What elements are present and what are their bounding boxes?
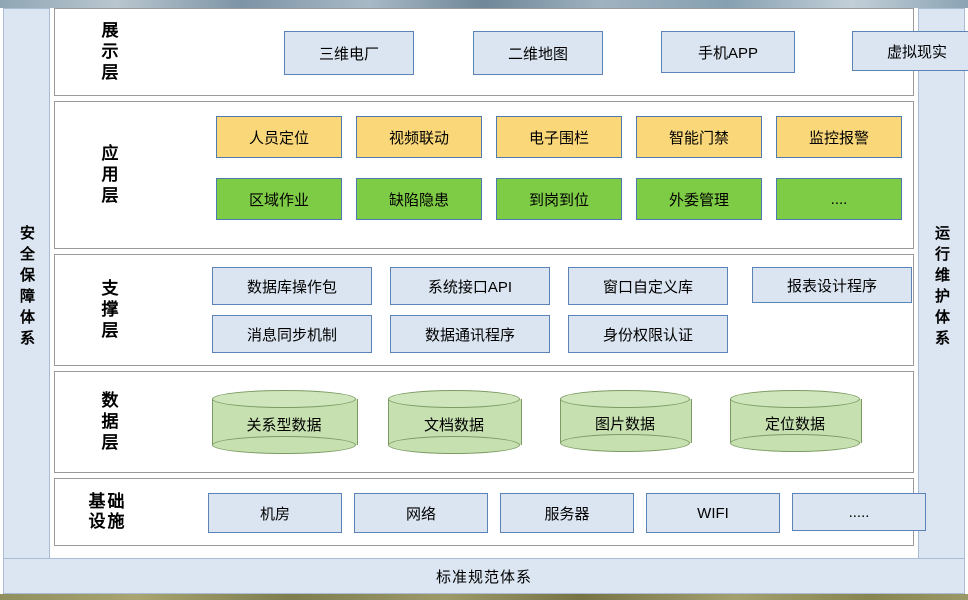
node-support[interactable]: 数据库操作包 (212, 267, 372, 305)
layer-label-text: 基础设施 (89, 492, 127, 531)
node-application[interactable]: 监控报警 (776, 116, 902, 158)
node-presentation[interactable]: 手机APP (661, 31, 795, 73)
sidebar-right-label: 运行维护体系 (934, 225, 949, 351)
cylinder-top (388, 390, 520, 408)
architecture-diagram: 智能 安全 维护 安全保障体系 运行维护体系 展示层三维电厂二维地图手机APP虚… (0, 0, 968, 600)
node-label: 到岗到位 (529, 189, 589, 210)
node-label: .... (831, 191, 848, 208)
node-label: 外委管理 (669, 189, 729, 210)
node-application[interactable]: 到岗到位 (496, 178, 622, 220)
layer-body-infrastructure: 机房网络服务器WIFI..... (160, 479, 913, 545)
layer-stack: 展示层三维电厂二维地图手机APP虚拟现实应用层人员定位视频联动电子围栏智能门禁监… (54, 8, 914, 568)
node-presentation[interactable]: 二维地图 (473, 31, 603, 75)
node-label: 区域作业 (249, 189, 309, 210)
layer-data: 数据层关系型数据文档数据图片数据定位数据 (54, 371, 914, 473)
node-label: 手机APP (698, 42, 758, 63)
node-label: 服务器 (544, 503, 589, 524)
node-label: 智能门禁 (669, 127, 729, 148)
node-label: 视频联动 (389, 127, 449, 148)
layer-label-presentation: 展示层 (55, 21, 160, 84)
node-support[interactable]: 身份权限认证 (568, 315, 728, 353)
node-support[interactable]: 数据通讯程序 (390, 315, 550, 353)
node-infrastructure[interactable]: 网络 (354, 493, 488, 533)
node-label: 窗口自定义库 (603, 276, 693, 297)
node-label: 消息同步机制 (247, 324, 337, 345)
node-label: 身份权限认证 (603, 324, 693, 345)
node-application[interactable]: 缺陷隐患 (356, 178, 482, 220)
node-label: 二维地图 (508, 43, 568, 64)
cylinder-bottom (388, 436, 520, 454)
layer-label-support: 支撑层 (55, 279, 160, 342)
node-application[interactable]: 人员定位 (216, 116, 342, 158)
node-label: 系统接口API (428, 276, 512, 297)
node-support[interactable]: 窗口自定义库 (568, 267, 728, 305)
node-label: 监控报警 (809, 127, 869, 148)
footer-label: 标准规范体系 (436, 566, 532, 587)
cylinder-label: 图片数据 (595, 413, 655, 434)
node-support[interactable]: 系统接口API (390, 267, 550, 305)
node-label: 三维电厂 (319, 43, 379, 64)
cylinder-label: 文档数据 (424, 414, 484, 435)
node-label: ..... (849, 504, 870, 521)
node-label: 人员定位 (249, 127, 309, 148)
layer-support: 支撑层数据库操作包系统接口API窗口自定义库报表设计程序消息同步机制数据通讯程序… (54, 254, 914, 366)
layer-label-text: 应用层 (97, 144, 117, 207)
cylinder-label: 关系型数据 (246, 414, 321, 435)
layer-label-data: 数据层 (55, 391, 160, 454)
cylinder-label: 定位数据 (765, 413, 825, 434)
node-label: 报表设计程序 (787, 275, 877, 296)
node-label: 虚拟现实 (887, 41, 947, 62)
cylinder-top (560, 390, 690, 408)
node-infrastructure[interactable]: 机房 (208, 493, 342, 533)
node-label: 网络 (406, 503, 436, 524)
node-presentation[interactable]: 三维电厂 (284, 31, 414, 75)
node-application[interactable]: 视频联动 (356, 116, 482, 158)
layer-label-infrastructure: 基础设施 (55, 492, 160, 531)
node-application[interactable]: 外委管理 (636, 178, 762, 220)
node-label: 数据通讯程序 (425, 324, 515, 345)
cylinder-top (212, 390, 356, 408)
cylinder-data[interactable]: 图片数据 (560, 390, 690, 452)
layer-label-application: 应用层 (55, 144, 160, 207)
footer-standards-system: 标准规范体系 (3, 558, 965, 594)
node-label: 电子围栏 (529, 127, 589, 148)
node-application[interactable]: 电子围栏 (496, 116, 622, 158)
layer-application: 应用层人员定位视频联动电子围栏智能门禁监控报警区域作业缺陷隐患到岗到位外委管理.… (54, 101, 914, 249)
node-support[interactable]: 消息同步机制 (212, 315, 372, 353)
node-application[interactable]: 智能门禁 (636, 116, 762, 158)
node-infrastructure[interactable]: 服务器 (500, 493, 634, 533)
top-photo-strip (0, 0, 968, 8)
sidebar-operations-maintenance: 运行维护体系 (918, 8, 965, 568)
node-label: WIFI (697, 505, 729, 522)
node-application[interactable]: 区域作业 (216, 178, 342, 220)
layer-body-application: 人员定位视频联动电子围栏智能门禁监控报警区域作业缺陷隐患到岗到位外委管理.... (160, 102, 913, 248)
layer-body-data: 关系型数据文档数据图片数据定位数据 (160, 372, 913, 472)
sidebar-security-assurance: 安全保障体系 (3, 8, 50, 568)
layer-presentation: 展示层三维电厂二维地图手机APP虚拟现实 (54, 8, 914, 96)
node-label: 缺陷隐患 (389, 189, 449, 210)
node-application[interactable]: .... (776, 178, 902, 220)
cylinder-bottom (560, 434, 690, 452)
layer-label-text: 支撑层 (97, 279, 117, 342)
cylinder-data[interactable]: 定位数据 (730, 390, 860, 452)
cylinder-data[interactable]: 文档数据 (388, 390, 520, 454)
cylinder-bottom (212, 436, 356, 454)
node-infrastructure[interactable]: ..... (792, 493, 926, 531)
cylinder-data[interactable]: 关系型数据 (212, 390, 356, 454)
node-label: 机房 (260, 503, 290, 524)
node-label: 数据库操作包 (247, 276, 337, 297)
layer-label-text: 展示层 (97, 21, 117, 84)
layer-body-presentation: 三维电厂二维地图手机APP虚拟现实 (160, 9, 913, 95)
cylinder-top (730, 390, 860, 408)
layer-infrastructure: 基础设施机房网络服务器WIFI..... (54, 478, 914, 546)
cylinder-bottom (730, 434, 860, 452)
node-infrastructure[interactable]: WIFI (646, 493, 780, 533)
node-support[interactable]: 报表设计程序 (752, 267, 912, 303)
node-presentation[interactable]: 虚拟现实 (852, 31, 968, 71)
sidebar-left-label: 安全保障体系 (19, 225, 34, 351)
bottom-photo-strip (0, 594, 968, 600)
layer-label-text: 数据层 (97, 391, 117, 454)
layer-body-support: 数据库操作包系统接口API窗口自定义库报表设计程序消息同步机制数据通讯程序身份权… (160, 255, 913, 365)
